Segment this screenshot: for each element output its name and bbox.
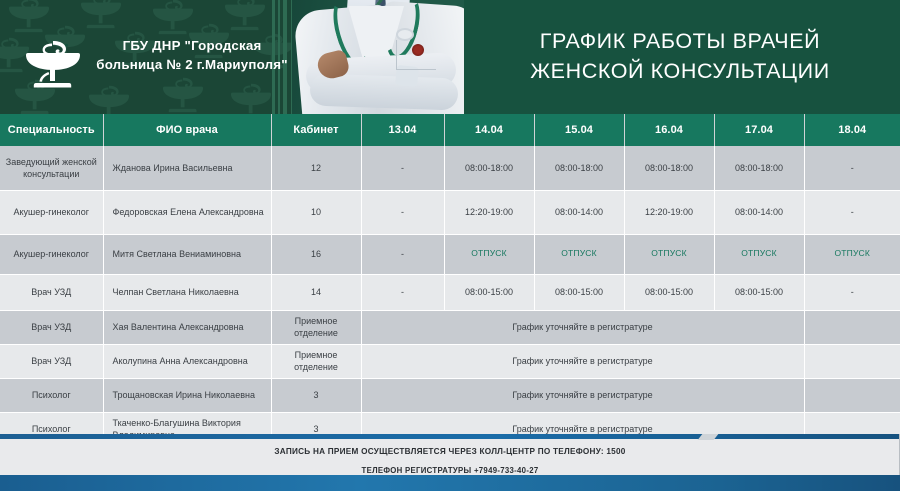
table-column-header: 14.04 xyxy=(444,114,534,146)
cell-doctor-name: Трощановская Ирина Николаевна xyxy=(103,378,271,412)
cell-day-schedule: ОТПУСК xyxy=(624,234,714,274)
cell-doctor-name: Митя Светлана Вениаминовна xyxy=(103,234,271,274)
table-column-header: ФИО врача xyxy=(103,114,271,146)
cell-day-empty xyxy=(804,344,900,378)
cell-doctor-name: Челпан Светлана Николаевна xyxy=(103,274,271,310)
cell-specialty: Врач УЗД xyxy=(0,344,103,378)
cell-room: Приемное отделение xyxy=(271,344,361,378)
hospital-name: ГБУ ДНР "Городская больница № 2 г.Мариуп… xyxy=(92,36,292,75)
table-row: Акушер-гинекологФедоровская Елена Алекса… xyxy=(0,190,900,234)
cell-day-schedule: 08:00-15:00 xyxy=(714,274,804,310)
cell-doctor-name: Жданова Ирина Васильевна xyxy=(103,146,271,190)
page-title: ГРАФИК РАБОТЫ ВРАЧЕЙ ЖЕНСКОЙ КОНСУЛЬТАЦИ… xyxy=(470,27,890,86)
cell-doctor-name: Аколупина Анна Александровна xyxy=(103,344,271,378)
cell-day-schedule: ОТПУСК xyxy=(444,234,534,274)
cell-specialty: Акушер-гинеколог xyxy=(0,234,103,274)
cell-schedule-note: График уточняйте в регистратуре xyxy=(361,344,804,378)
cell-day-schedule: 08:00-14:00 xyxy=(534,190,624,234)
poster-header: ГБУ ДНР "Городская больница № 2 г.Мариуп… xyxy=(0,0,900,114)
table-header-row: СпециальностьФИО врачаКабинет13.0414.041… xyxy=(0,114,900,146)
cell-day-empty xyxy=(804,310,900,344)
table-column-header: Специальность xyxy=(0,114,103,146)
cell-schedule-note: График уточняйте в регистратуре xyxy=(361,378,804,412)
bowl-of-hygieia-icon xyxy=(22,36,84,90)
table-row: Врач УЗДАколупина Анна АлександровнаПрие… xyxy=(0,344,900,378)
cell-room: 16 xyxy=(271,234,361,274)
table-column-header: 13.04 xyxy=(361,114,444,146)
doctor-photo xyxy=(292,0,464,114)
cell-day-schedule: - xyxy=(804,146,900,190)
table-row: ПсихологТрощановская Ирина Николаевна3Гр… xyxy=(0,378,900,412)
cell-room: 12 xyxy=(271,146,361,190)
cell-day-schedule: 08:00-14:00 xyxy=(714,190,804,234)
cell-day-schedule: 08:00-18:00 xyxy=(624,146,714,190)
cell-day-schedule: - xyxy=(361,274,444,310)
cell-day-schedule: 12:20-19:00 xyxy=(444,190,534,234)
watermark-logo-icon xyxy=(160,74,206,114)
table-column-header: 17.04 xyxy=(714,114,804,146)
table-column-header: 15.04 xyxy=(534,114,624,146)
cell-day-schedule: 08:00-15:00 xyxy=(444,274,534,310)
cell-specialty: Акушер-гинеколог xyxy=(0,190,103,234)
registry-phone-notice: ТЕЛЕФОН РЕГИСТРАТУРЫ +7949-733-40-27 xyxy=(0,466,900,475)
footer-bottom-bar xyxy=(0,475,900,491)
cell-doctor-name: Хая Валентина Александровна xyxy=(103,310,271,344)
cell-specialty: Врач УЗД xyxy=(0,274,103,310)
cell-doctor-name: Федоровская Елена Александровна xyxy=(103,190,271,234)
cell-day-schedule: 08:00-15:00 xyxy=(624,274,714,310)
schedule-poster: ГБУ ДНР "Городская больница № 2 г.Мариуп… xyxy=(0,0,900,491)
page-title-line2: ЖЕНСКОЙ КОНСУЛЬТАЦИИ xyxy=(470,57,890,87)
cell-day-schedule: 08:00-18:00 xyxy=(534,146,624,190)
cell-day-schedule: ОТПУСК xyxy=(714,234,804,274)
cell-day-schedule: - xyxy=(804,190,900,234)
cell-specialty: Врач УЗД xyxy=(0,310,103,344)
cell-day-schedule: - xyxy=(804,274,900,310)
cell-day-empty xyxy=(804,378,900,412)
table-row: Врач УЗДХая Валентина АлександровнаПрием… xyxy=(0,310,900,344)
schedule-table: СпециальностьФИО врачаКабинет13.0414.041… xyxy=(0,114,900,447)
cell-room: 10 xyxy=(271,190,361,234)
table-column-header: 18.04 xyxy=(804,114,900,146)
cell-room: 3 xyxy=(271,378,361,412)
cell-specialty: Заведующий женской консультации xyxy=(0,146,103,190)
cell-day-schedule: ОТПУСК xyxy=(534,234,624,274)
table-row: Заведующий женской консультацииЖданова И… xyxy=(0,146,900,190)
table-body: Заведующий женской консультацииЖданова И… xyxy=(0,146,900,446)
cell-day-schedule: 08:00-18:00 xyxy=(714,146,804,190)
table-row: Акушер-гинекологМитя Светлана Вениаминов… xyxy=(0,234,900,274)
cell-day-schedule: - xyxy=(361,146,444,190)
footer-diagonal-decoration xyxy=(698,434,719,440)
cell-day-schedule: 08:00-18:00 xyxy=(444,146,534,190)
cell-day-schedule: 08:00-15:00 xyxy=(534,274,624,310)
cell-room: Приемное отделение xyxy=(271,310,361,344)
poster-footer: ЗАПИСЬ НА ПРИЕМ ОСУЩЕСТВЛЯЕТСЯ ЧЕРЕЗ КОЛ… xyxy=(0,434,900,491)
cell-day-schedule: 12:20-19:00 xyxy=(624,190,714,234)
table-row: Врач УЗДЧелпан Светлана Николаевна14-08:… xyxy=(0,274,900,310)
watermark-logo-icon xyxy=(86,82,132,114)
cell-day-schedule: - xyxy=(361,234,444,274)
table-column-header: 16.04 xyxy=(624,114,714,146)
table-column-header: Кабинет xyxy=(271,114,361,146)
cell-specialty: Психолог xyxy=(0,378,103,412)
cell-schedule-note: График уточняйте в регистратуре xyxy=(361,310,804,344)
footer-top-bar xyxy=(0,434,900,439)
page-title-line1: ГРАФИК РАБОТЫ ВРАЧЕЙ xyxy=(470,27,890,57)
watermark-logo-icon xyxy=(228,80,274,114)
cell-room: 14 xyxy=(271,274,361,310)
call-center-notice: ЗАПИСЬ НА ПРИЕМ ОСУЩЕСТВЛЯЕТСЯ ЧЕРЕЗ КОЛ… xyxy=(0,447,900,456)
cell-day-schedule: ОТПУСК xyxy=(804,234,900,274)
cell-day-schedule: - xyxy=(361,190,444,234)
